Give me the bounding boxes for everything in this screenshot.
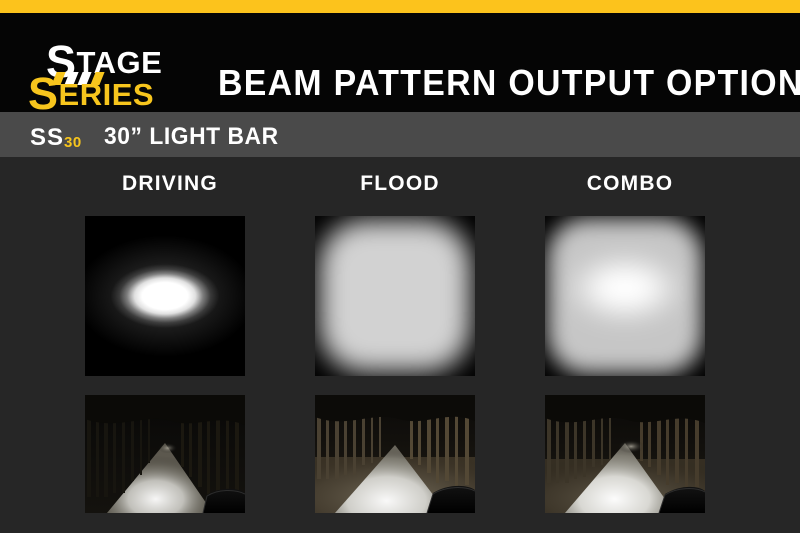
top-accent-rule <box>0 0 800 13</box>
logo-text-line1: Stage <box>28 39 29 40</box>
stage-series-logo: Stage Series Stage Series <box>28 39 188 111</box>
sku-suffix: 30 <box>64 134 82 151</box>
driving-photo-description: Night forest road lit by a narrow bright… <box>55 157 56 158</box>
driving-road-illustration <box>85 395 245 513</box>
product-name: 30” LIGHT BAR <box>104 123 279 151</box>
combo-beam-glow <box>545 216 705 376</box>
beam-column-flood: FLOOD <box>285 157 515 533</box>
logo-text-line2: Series <box>28 39 29 40</box>
combo-beam-pattern <box>545 216 705 376</box>
flood-beam-pattern <box>315 216 475 376</box>
logo-word-series: Series <box>28 71 154 116</box>
combo-photo-description: Night forest road with both a bright cen… <box>515 157 516 158</box>
flood-beam-glow <box>315 216 475 376</box>
beam-column-combo: COMBO <box>515 157 745 533</box>
combo-road-illustration <box>545 395 705 513</box>
page-title: BEAM PATTERN OUTPUT OPTIONS <box>218 62 800 104</box>
sku-badge: SS30 <box>30 124 82 152</box>
column-label-flood: FLOOD <box>285 172 515 196</box>
driving-beam-description: Tight elliptical hotspot centered on a b… <box>55 157 56 158</box>
sku-prefix: SS <box>30 124 64 151</box>
driving-road-photo <box>85 395 245 513</box>
beam-columns: DRIVING <box>0 157 800 533</box>
beam-pattern-infographic: Stage Series Stage Series BEAM PATTERN O… <box>0 0 800 533</box>
driving-beam-glow <box>85 216 245 376</box>
column-label-driving: DRIVING <box>55 172 285 196</box>
driving-beam-pattern <box>85 216 245 376</box>
column-label-combo: COMBO <box>515 172 745 196</box>
beam-column-driving: DRIVING <box>55 157 285 533</box>
flood-road-photo <box>315 395 475 513</box>
combo-road-photo <box>545 395 705 513</box>
flood-photo-description: Night forest road with wide illumination… <box>285 157 286 158</box>
flood-beam-description: Broad even rounded-square wash of light … <box>285 157 286 158</box>
flood-road-illustration <box>315 395 475 513</box>
combo-beam-description: Bright central hotspot blended with a wi… <box>515 157 516 158</box>
header-band: Stage Series Stage Series BEAM PATTERN O… <box>0 13 800 112</box>
